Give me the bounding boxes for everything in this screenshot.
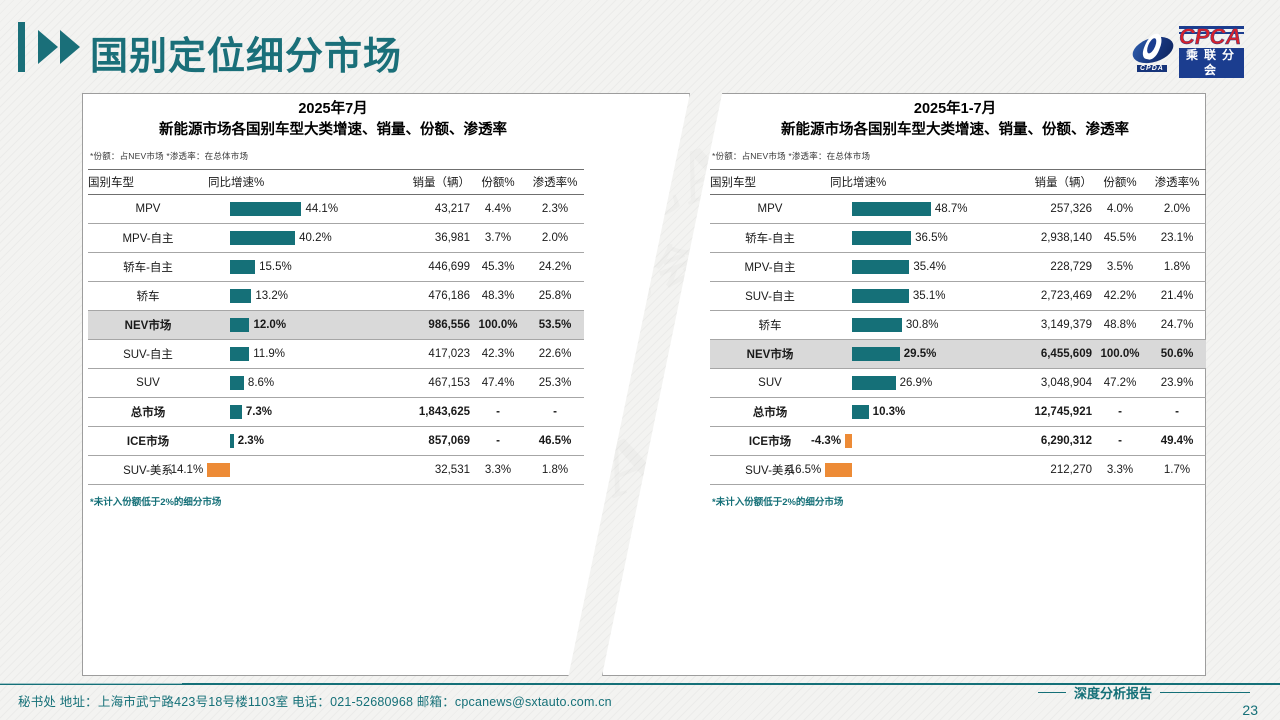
cell-penetration: 49.4%: [1148, 427, 1206, 456]
cell-penetration: 23.1%: [1148, 224, 1206, 253]
bar-value-label: 44.1%: [305, 201, 338, 217]
cell-growth-bar: 35.4%: [830, 253, 1010, 282]
table-left: 国别车型 同比增速% 销量（辆） 份额% 渗透率% MPV44.1%43,217…: [88, 169, 584, 485]
cell-volume: 476,186: [388, 282, 470, 311]
bar-track: 13.2%: [208, 282, 382, 310]
bar-positive: [852, 202, 931, 216]
footer-rule-right: [1160, 692, 1250, 693]
bar-value-label: 36.5%: [915, 230, 948, 246]
cell-penetration: 1.8%: [526, 456, 584, 485]
bar-track: 35.1%: [830, 282, 1004, 310]
cell-share: 3.7%: [470, 224, 526, 253]
bar-track: 11.9%: [208, 340, 382, 368]
cell-volume: 257,326: [1010, 195, 1092, 224]
table-right-footnote: *未计入份额低于2%的细分市场: [712, 494, 1200, 508]
bar-value-label: -4.3%: [811, 433, 841, 449]
bar-track: 30.8%: [830, 311, 1004, 339]
cell-volume: 417,023: [388, 340, 470, 369]
col-header-name: 国别车型: [710, 170, 830, 195]
cell-volume: 6,290,312: [1010, 427, 1092, 456]
bar-value-label: 7.3%: [246, 404, 272, 420]
cell-growth-bar: 10.3%: [830, 398, 1010, 427]
cell-penetration: 22.6%: [526, 340, 584, 369]
footer-report-label: 深度分析报告: [1074, 683, 1152, 702]
cell-volume: 36,981: [388, 224, 470, 253]
table-row: NEV市场12.0%986,556100.0%53.5%: [88, 311, 584, 340]
table-row: SUV-美系-14.1%32,5313.3%1.8%: [88, 456, 584, 485]
cell-penetration: 50.6%: [1148, 340, 1206, 369]
cell-growth-bar: 26.9%: [830, 369, 1010, 398]
table-row: SUV-自主11.9%417,02342.3%22.6%: [88, 340, 584, 369]
cell-growth-bar: 44.1%: [208, 195, 388, 224]
bar-value-label: 29.5%: [904, 346, 937, 362]
bar-positive: [852, 289, 909, 303]
bar-value-label: 15.5%: [259, 259, 292, 275]
col-header-share: 份额%: [1092, 170, 1148, 195]
cell-share: 48.3%: [470, 282, 526, 311]
chevron-right-icon-2: [60, 30, 80, 64]
table-right-header-row: 国别车型 同比增速% 销量（辆） 份额% 渗透率%: [710, 170, 1206, 195]
cell-category: SUV-自主: [88, 340, 208, 369]
cell-penetration: 1.8%: [1148, 253, 1206, 282]
cell-growth-bar: 15.5%: [208, 253, 388, 282]
table-left-container: 2025年7月 新能源市场各国别车型大类增速、销量、份额、渗透率 *份额：占NE…: [88, 100, 578, 508]
cell-share: 3.3%: [1092, 456, 1148, 485]
cell-share: 4.4%: [470, 195, 526, 224]
cell-growth-bar: 13.2%: [208, 282, 388, 311]
col-header-name: 国别车型: [88, 170, 208, 195]
cell-penetration: 24.2%: [526, 253, 584, 282]
table-row: 总市场7.3%1,843,625--: [88, 398, 584, 427]
cell-category: 轿车-自主: [88, 253, 208, 282]
bar-value-label: 30.8%: [906, 317, 939, 333]
table-row: ICE市场2.3%857,069-46.5%: [88, 427, 584, 456]
table-right-body: MPV48.7%257,3264.0%2.0%轿车-自主36.5%2,938,1…: [710, 195, 1206, 485]
bar-track: 12.0%: [208, 311, 382, 339]
cell-volume: 467,153: [388, 369, 470, 398]
cell-share: 100.0%: [1092, 340, 1148, 369]
cell-growth-bar: 36.5%: [830, 224, 1010, 253]
cell-volume: 446,699: [388, 253, 470, 282]
cell-penetration: 24.7%: [1148, 311, 1206, 340]
cell-volume: 6,455,609: [1010, 340, 1092, 369]
cell-share: -: [470, 427, 526, 456]
cell-volume: 12,745,921: [1010, 398, 1092, 427]
bar-positive: [230, 260, 255, 274]
bar-positive: [230, 347, 249, 361]
table-row: SUV26.9%3,048,90447.2%23.9%: [710, 369, 1206, 398]
cell-category: SUV: [88, 369, 208, 398]
cell-category: MPV-自主: [710, 253, 830, 282]
bar-negative: [825, 463, 852, 477]
cell-growth-bar: 40.2%: [208, 224, 388, 253]
cell-volume: 986,556: [388, 311, 470, 340]
bar-track: 7.3%: [208, 398, 382, 426]
cell-penetration: -: [1148, 398, 1206, 427]
table-left-header-row: 国别车型 同比增速% 销量（辆） 份额% 渗透率%: [88, 170, 584, 195]
cell-growth-bar: -16.5%: [830, 456, 1010, 485]
cell-penetration: -: [526, 398, 584, 427]
cell-category: 轿车: [88, 282, 208, 311]
bar-positive: [230, 318, 249, 332]
bar-value-label: 10.3%: [873, 404, 906, 420]
cell-penetration: 25.3%: [526, 369, 584, 398]
table-row: SUV8.6%467,15347.4%25.3%: [88, 369, 584, 398]
cell-share: 100.0%: [470, 311, 526, 340]
bar-positive: [230, 289, 251, 303]
cell-share: 48.8%: [1092, 311, 1148, 340]
bar-track: 15.5%: [208, 253, 382, 281]
bar-value-label: -14.1%: [167, 462, 203, 478]
bar-value-label: 48.7%: [935, 201, 968, 217]
bar-track: 44.1%: [208, 195, 382, 223]
bar-positive: [852, 260, 909, 274]
bar-value-label: 2.3%: [238, 433, 264, 449]
table-right: 国别车型 同比增速% 销量（辆） 份额% 渗透率% MPV48.7%257,32…: [710, 169, 1206, 485]
cell-category: NEV市场: [710, 340, 830, 369]
col-header-volume: 销量（辆）: [388, 170, 470, 195]
chevron-right-icon: [38, 30, 58, 64]
bar-track: 2.3%: [208, 427, 382, 455]
cell-penetration: 1.7%: [1148, 456, 1206, 485]
bar-track: -16.5%: [830, 456, 1004, 484]
slide-header: 国别定位细分市场 CPDA CPCA 乘联分会: [0, 0, 1280, 92]
bar-value-label: 12.0%: [253, 317, 286, 333]
logo-cpda-text: CPDA: [1137, 65, 1167, 72]
bar-track: 10.3%: [830, 398, 1004, 426]
col-header-penetration: 渗透率%: [526, 170, 584, 195]
table-row: MPV-自主40.2%36,9813.7%2.0%: [88, 224, 584, 253]
cell-penetration: 46.5%: [526, 427, 584, 456]
cell-share: 3.5%: [1092, 253, 1148, 282]
bar-value-label: 26.9%: [900, 375, 933, 391]
col-header-volume: 销量（辆）: [1010, 170, 1092, 195]
bar-positive: [230, 231, 295, 245]
bar-negative: [207, 463, 230, 477]
bar-value-label: 35.1%: [913, 288, 946, 304]
cell-penetration: 2.3%: [526, 195, 584, 224]
cell-volume: 3,149,379: [1010, 311, 1092, 340]
cell-share: -: [1092, 398, 1148, 427]
bar-positive: [852, 318, 902, 332]
table-row: 轿车-自主15.5%446,69945.3%24.2%: [88, 253, 584, 282]
cell-penetration: 23.9%: [1148, 369, 1206, 398]
cpca-logo-mark: CPDA: [1132, 32, 1174, 72]
bar-track: 40.2%: [208, 224, 382, 252]
cell-share: 4.0%: [1092, 195, 1148, 224]
cell-growth-bar: -14.1%: [208, 456, 388, 485]
table-left-body: MPV44.1%43,2174.4%2.3%MPV-自主40.2%36,9813…: [88, 195, 584, 485]
bar-track: -14.1%: [208, 456, 382, 484]
bar-positive: [230, 434, 234, 448]
table-row: MPV-自主35.4%228,7293.5%1.8%: [710, 253, 1206, 282]
footer-divider-accent: [0, 683, 182, 684]
cell-share: -: [470, 398, 526, 427]
table-right-title-period: 2025年1-7月: [710, 100, 1200, 119]
cpca-logo-text: CPCA 乘联分会: [1179, 26, 1244, 78]
accent-bar: [18, 22, 25, 72]
page-number: 23: [1242, 702, 1258, 718]
cell-share: 42.3%: [470, 340, 526, 369]
bar-positive: [230, 202, 301, 216]
cell-share: 47.2%: [1092, 369, 1148, 398]
cell-growth-bar: 35.1%: [830, 282, 1010, 311]
table-row: MPV48.7%257,3264.0%2.0%: [710, 195, 1206, 224]
cell-volume: 43,217: [388, 195, 470, 224]
footer-contact: 秘书处 地址：上海市武宁路423号18号楼1103室 电话：021-526809…: [18, 691, 612, 710]
cell-growth-bar: 7.3%: [208, 398, 388, 427]
bar-track: 29.5%: [830, 340, 1004, 368]
table-left-footnote: *未计入份额低于2%的细分市场: [90, 494, 578, 508]
bar-value-label: 40.2%: [299, 230, 332, 246]
footer-report-label-group: 深度分析报告: [1038, 683, 1250, 702]
cell-share: 45.5%: [1092, 224, 1148, 253]
bar-positive: [230, 376, 244, 390]
cell-penetration: 21.4%: [1148, 282, 1206, 311]
cell-growth-bar: 2.3%: [208, 427, 388, 456]
bar-track: -4.3%: [830, 427, 1004, 455]
table-left-note: *份额：占NEV市场 *渗透率：在总体市场: [90, 150, 578, 162]
cell-growth-bar: 30.8%: [830, 311, 1010, 340]
col-header-penetration: 渗透率%: [1148, 170, 1206, 195]
cell-category: 总市场: [710, 398, 830, 427]
table-left-title-period: 2025年7月: [88, 100, 578, 119]
cell-penetration: 2.0%: [526, 224, 584, 253]
table-row: SUV-美系-16.5%212,2703.3%1.7%: [710, 456, 1206, 485]
cell-category: SUV: [710, 369, 830, 398]
cell-category: 轿车: [710, 311, 830, 340]
table-row: 轿车-自主36.5%2,938,14045.5%23.1%: [710, 224, 1206, 253]
cell-penetration: 53.5%: [526, 311, 584, 340]
bar-value-label: 11.9%: [253, 346, 285, 362]
bar-value-label: 35.4%: [913, 259, 946, 275]
logo-brand: CPCA: [1179, 26, 1244, 48]
cell-category: ICE市场: [88, 427, 208, 456]
cell-category: SUV-自主: [710, 282, 830, 311]
table-left-title-main: 新能源市场各国别车型大类增速、销量、份额、渗透率: [88, 120, 578, 140]
cell-volume: 32,531: [388, 456, 470, 485]
cell-volume: 212,270: [1010, 456, 1092, 485]
cell-category: MPV: [88, 195, 208, 224]
bar-positive: [852, 376, 896, 390]
cell-volume: 857,069: [388, 427, 470, 456]
bar-track: 36.5%: [830, 224, 1004, 252]
bar-track: 26.9%: [830, 369, 1004, 397]
bar-track: 48.7%: [830, 195, 1004, 223]
cell-growth-bar: 48.7%: [830, 195, 1010, 224]
bar-negative: [845, 434, 852, 448]
cell-penetration: 25.8%: [526, 282, 584, 311]
cell-share: 3.3%: [470, 456, 526, 485]
table-row: NEV市场29.5%6,455,609100.0%50.6%: [710, 340, 1206, 369]
cell-share: -: [1092, 427, 1148, 456]
table-row: 轿车13.2%476,18648.3%25.8%: [88, 282, 584, 311]
bar-value-label: 8.6%: [248, 375, 274, 391]
footer-rule-left: [1038, 692, 1066, 693]
cell-category: MPV: [710, 195, 830, 224]
col-header-growth: 同比增速%: [830, 170, 1010, 195]
bar-value-label: -16.5%: [785, 462, 821, 478]
bar-track: 35.4%: [830, 253, 1004, 281]
cell-share: 42.2%: [1092, 282, 1148, 311]
table-right-title-main: 新能源市场各国别车型大类增速、销量、份额、渗透率: [710, 120, 1200, 140]
bar-positive: [852, 347, 900, 361]
page-title: 国别定位细分市场: [90, 25, 402, 80]
cell-category: NEV市场: [88, 311, 208, 340]
logo-subtitle: 乘联分会: [1179, 48, 1244, 78]
bar-positive: [852, 405, 869, 419]
cell-share: 47.4%: [470, 369, 526, 398]
cell-penetration: 2.0%: [1148, 195, 1206, 224]
cell-growth-bar: -4.3%: [830, 427, 1010, 456]
bar-track: 8.6%: [208, 369, 382, 397]
cell-share: 45.3%: [470, 253, 526, 282]
table-row: MPV44.1%43,2174.4%2.3%: [88, 195, 584, 224]
cell-growth-bar: 11.9%: [208, 340, 388, 369]
cell-volume: 2,938,140: [1010, 224, 1092, 253]
table-row: ICE市场-4.3%6,290,312-49.4%: [710, 427, 1206, 456]
cell-volume: 228,729: [1010, 253, 1092, 282]
bar-positive: [852, 231, 911, 245]
table-right-note: *份额：占NEV市场 *渗透率：在总体市场: [712, 150, 1200, 162]
cell-category: MPV-自主: [88, 224, 208, 253]
bar-value-label: 13.2%: [255, 288, 288, 304]
cell-growth-bar: 29.5%: [830, 340, 1010, 369]
cpca-logo: CPDA CPCA 乘联分会: [1132, 30, 1244, 74]
col-header-growth: 同比增速%: [208, 170, 388, 195]
table-row: SUV-自主35.1%2,723,46942.2%21.4%: [710, 282, 1206, 311]
table-row: 总市场10.3%12,745,921--: [710, 398, 1206, 427]
cell-category: 总市场: [88, 398, 208, 427]
col-header-share: 份额%: [470, 170, 526, 195]
cell-growth-bar: 12.0%: [208, 311, 388, 340]
bar-positive: [230, 405, 242, 419]
cell-growth-bar: 8.6%: [208, 369, 388, 398]
table-right-container: 2025年1-7月 新能源市场各国别车型大类增速、销量、份额、渗透率 *份额：占…: [710, 100, 1200, 508]
cell-volume: 3,048,904: [1010, 369, 1092, 398]
table-row: 轿车30.8%3,149,37948.8%24.7%: [710, 311, 1206, 340]
cell-volume: 1,843,625: [388, 398, 470, 427]
cell-category: 轿车-自主: [710, 224, 830, 253]
cell-volume: 2,723,469: [1010, 282, 1092, 311]
